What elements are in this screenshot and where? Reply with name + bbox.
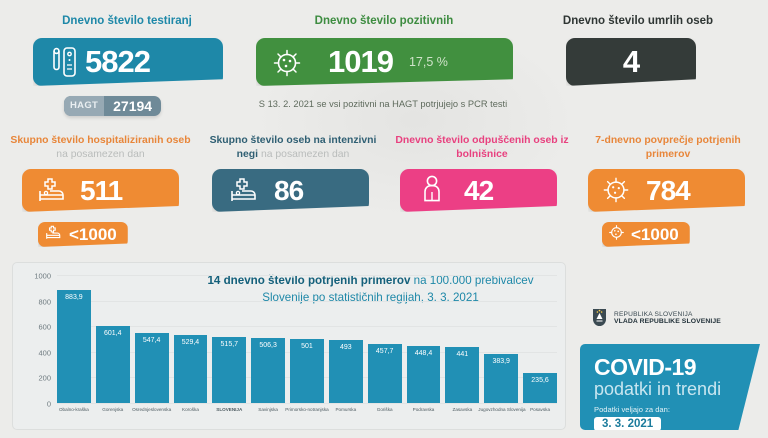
icu-card-title: Skupno število oseb na intenzivni negi n…: [198, 134, 388, 161]
discharged-card-title: Dnevno število odpuščenih oseb iz bolniš…: [392, 134, 572, 161]
chart-plot-area: 10008006004002000 883,9Obalno-kraška601,…: [57, 275, 557, 403]
deaths-value: 4: [566, 44, 696, 80]
chart-bar-group: 501Primorsko-notranjska: [290, 275, 324, 403]
chart-bar-value-label: 448,4: [407, 350, 441, 357]
discharged-value: 42: [464, 175, 493, 207]
hospitalized-title-light: na posamezen dan: [56, 149, 144, 160]
hagt-badge: HAGT 27194: [64, 96, 161, 116]
chart-bar-group: 448,4Podravska: [407, 275, 441, 403]
hagt-badge-label: HAGT: [64, 96, 104, 116]
weekly-average-card-title: 7-dnevno povprečje potrjenih primerov: [578, 134, 758, 161]
deaths-card-title: Dnevno število umrlih oseb: [530, 14, 746, 29]
hospitalized-title-bold: Skupno število hospitaliziranih oseb: [10, 135, 190, 146]
positive-card-note: S 13. 2. 2021 se vsi pozitivni na HAGT p…: [243, 99, 523, 109]
weekly-average-card: 784: [588, 169, 745, 212]
government-logo-block: REPUBLIKA SLOVENIJA VLADA REPUBLIKE SLOV…: [592, 308, 721, 327]
weekly-average-value: 784: [646, 175, 690, 207]
chart-y-tick-label: 600: [38, 323, 51, 332]
person-icon: [420, 174, 444, 211]
chart-bar-group: 235,6Posavska: [523, 275, 557, 403]
regions-chart-panel: 14 dnevno število potrjenih primerov na …: [12, 262, 566, 430]
tests-card: 5822: [33, 38, 223, 86]
positive-percent: 17,5 %: [409, 55, 448, 69]
positive-card-title: Dnevno število pozitivnih: [258, 14, 510, 29]
hospitalized-card-title: Skupno število hospitaliziranih oseb na …: [8, 134, 193, 161]
chart-gridline: 0: [57, 403, 557, 404]
discharged-title-bold: Dnevno število odpuščenih oseb iz bolniš…: [395, 135, 568, 160]
chart-bar-group: 457,7Goriška: [368, 275, 402, 403]
covid-subtitle: podatki in trendi: [594, 379, 760, 400]
virus-icon: [272, 48, 302, 83]
chart-bar-value-label: 601,4: [96, 330, 130, 337]
chart-bar-value-label: 529,4: [174, 339, 208, 346]
chart-bar[interactable]: 441: [445, 347, 479, 403]
icu-value: 86: [274, 175, 303, 207]
hospital-bed-small-icon: [44, 224, 63, 246]
chart-bar-value-label: 457,7: [368, 348, 402, 355]
chart-bar-group: 493Pomurska: [329, 275, 363, 403]
chart-bar-value-label: 441: [445, 351, 479, 358]
government-line-2: VLADA REPUBLIKE SLOVENIJE: [614, 318, 721, 325]
chart-bar-group: 515,7SLOVENIJA: [212, 275, 246, 403]
chart-bar[interactable]: 501: [290, 339, 324, 403]
chart-bar-value-label: 235,6: [523, 377, 557, 384]
hospitalized-value: 511: [80, 175, 122, 207]
chart-bar[interactable]: 547,4: [135, 333, 169, 403]
chart-bar[interactable]: 529,4: [174, 335, 208, 403]
chart-bar-value-label: 515,7: [212, 341, 246, 348]
chart-bar-value-label: 501: [290, 343, 324, 350]
chart-bar[interactable]: 883,9: [57, 290, 91, 403]
deaths-card: 4: [566, 38, 696, 86]
hospitalized-threshold-badge: <1000: [38, 222, 128, 247]
chart-bar-value-label: 883,9: [57, 294, 91, 301]
chart-y-tick-label: 1000: [34, 272, 51, 281]
government-line-1: REPUBLIKA SLOVENIJA: [614, 311, 721, 318]
covid-date-badge: 3. 3. 2021: [594, 417, 661, 431]
chart-bar-value-label: 506,3: [251, 342, 285, 349]
covid-note: Podatki veljajo za dan:: [594, 405, 760, 414]
weekly-average-threshold-badge: <1000: [602, 222, 690, 247]
top-metrics-row: Dnevno število testiranj 5822 HAGT 27194…: [0, 0, 768, 125]
icu-title-light: na posamezen dan: [261, 149, 349, 160]
chart-bar-group: 529,4Koroška: [174, 275, 208, 403]
hospital-bed-icon: [36, 175, 68, 210]
chart-bar[interactable]: 493: [329, 340, 363, 403]
chart-bar[interactable]: 235,6: [523, 373, 557, 403]
chart-bar-value-label: 493: [329, 344, 363, 351]
tests-value: 5822: [85, 44, 150, 80]
hospitalized-threshold-value: <1000: [69, 225, 117, 245]
chart-bar-group: 506,3Savinjska: [251, 275, 285, 403]
chart-y-tick-label: 200: [38, 374, 51, 383]
chart-bar[interactable]: 506,3: [251, 338, 285, 403]
chart-y-tick-label: 800: [38, 297, 51, 306]
hospital-bed-icon: [228, 175, 260, 210]
covid-branding-block: COVID-19 podatki in trendi Podatki velja…: [580, 344, 760, 430]
discharged-card: 42: [400, 169, 557, 212]
chart-bar-value-label: 383,9: [484, 358, 518, 365]
chart-bar-group: 883,9Obalno-kraška: [57, 275, 91, 403]
chart-bar-group: 441Zasavska: [445, 275, 479, 403]
chart-bar[interactable]: 383,9: [484, 354, 518, 403]
chart-bar[interactable]: 601,4: [96, 326, 130, 403]
chart-bar-group: 547,4Osrednjeslovenska: [135, 275, 169, 403]
chart-bars: 883,9Obalno-kraška601,4Gorenjska547,4Osr…: [57, 275, 557, 403]
test-tube-icon: [47, 45, 81, 84]
chart-bar[interactable]: 457,7: [368, 344, 402, 403]
chart-y-tick-label: 400: [38, 348, 51, 357]
positive-value: 1019: [328, 44, 393, 80]
tests-card-title: Dnevno število testiranj: [12, 14, 242, 29]
chart-x-tick-label: Posavska: [517, 407, 563, 412]
slovenia-coat-of-arms-icon: [592, 308, 607, 327]
positive-card: 1019 17,5 %: [256, 38, 513, 86]
secondary-metrics-row: Skupno število hospitaliziranih oseb na …: [0, 128, 768, 258]
chart-bar[interactable]: 448,4: [407, 346, 441, 403]
virus-icon: [602, 176, 630, 209]
chart-bar-value-label: 547,4: [135, 337, 169, 344]
virus-small-icon: [608, 224, 625, 246]
chart-bar-group: 601,4Gorenjska: [96, 275, 130, 403]
hagt-badge-value: 27194: [104, 96, 161, 116]
chart-bar-group: 383,9Jugovzhodna Slovenija: [484, 275, 518, 403]
chart-bar[interactable]: 515,7: [212, 337, 246, 403]
covid-title: COVID-19: [594, 354, 760, 381]
hospitalized-card: 511: [22, 169, 179, 212]
weekly-average-threshold-value: <1000: [631, 225, 679, 245]
weekly-average-title-bold: 7-dnevno povprečje potrjenih primerov: [595, 135, 741, 160]
icu-card: 86: [212, 169, 369, 212]
